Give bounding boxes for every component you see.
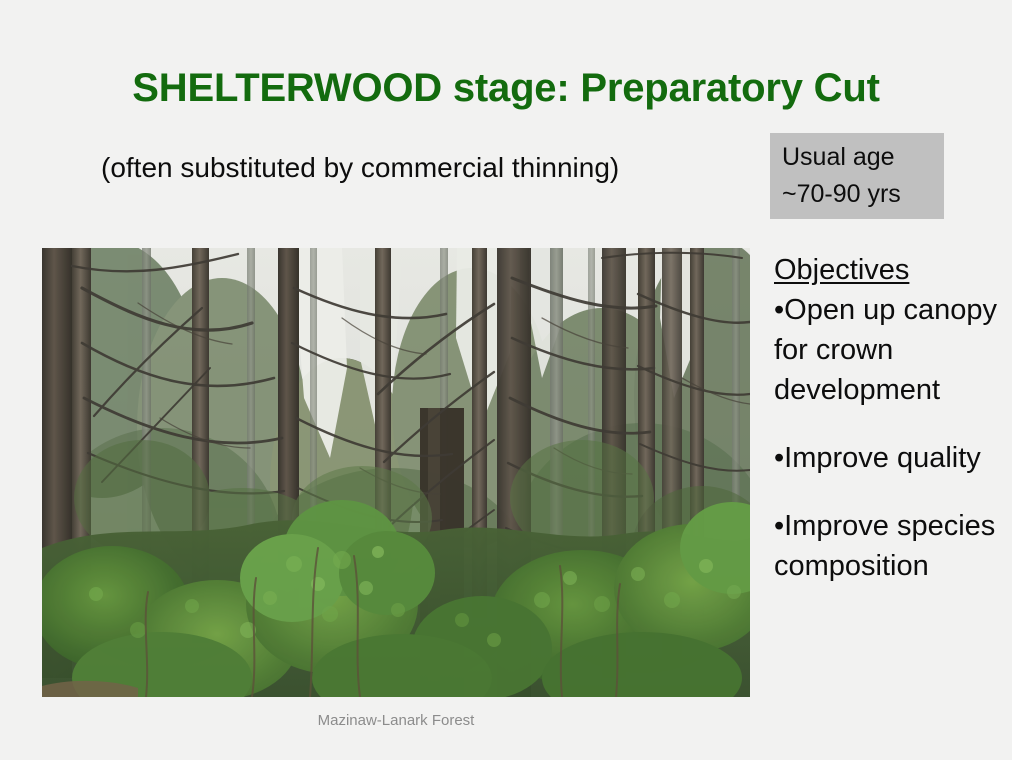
objective-item-2: •Improve quality <box>774 438 1010 478</box>
bullet-icon: • <box>774 510 784 542</box>
objective-item-3-label: Improve species composition <box>774 510 995 582</box>
objective-item-1: •Open up canopy for crown development <box>774 290 1010 410</box>
objectives-heading: Objectives <box>774 250 909 290</box>
slide-canvas: SHELTERWOOD stage: Preparatory Cut (ofte… <box>0 0 1012 760</box>
usual-age-callout: Usual age ~70-90 yrs <box>770 133 944 219</box>
usual-age-line-1: Usual age <box>782 139 944 176</box>
objective-item-3: •Improve species composition <box>774 506 1010 586</box>
objective-item-1-label: Open up canopy for crown development <box>774 294 997 406</box>
photo-caption: Mazinaw-Lanark Forest <box>42 712 750 729</box>
forest-photo <box>42 248 750 697</box>
usual-age-line-2: ~70-90 yrs <box>782 176 944 213</box>
forest-photo-image <box>42 248 750 697</box>
objectives-panel: Objectives •Open up canopy for crown dev… <box>774 250 1010 586</box>
objective-item-2-label: Improve quality <box>784 442 981 474</box>
slide-subtitle: (often substituted by commercial thinnin… <box>101 152 619 184</box>
page-title: SHELTERWOOD stage: Preparatory Cut <box>0 66 1012 111</box>
bullet-icon: • <box>774 294 784 326</box>
bullet-icon: • <box>774 442 784 474</box>
